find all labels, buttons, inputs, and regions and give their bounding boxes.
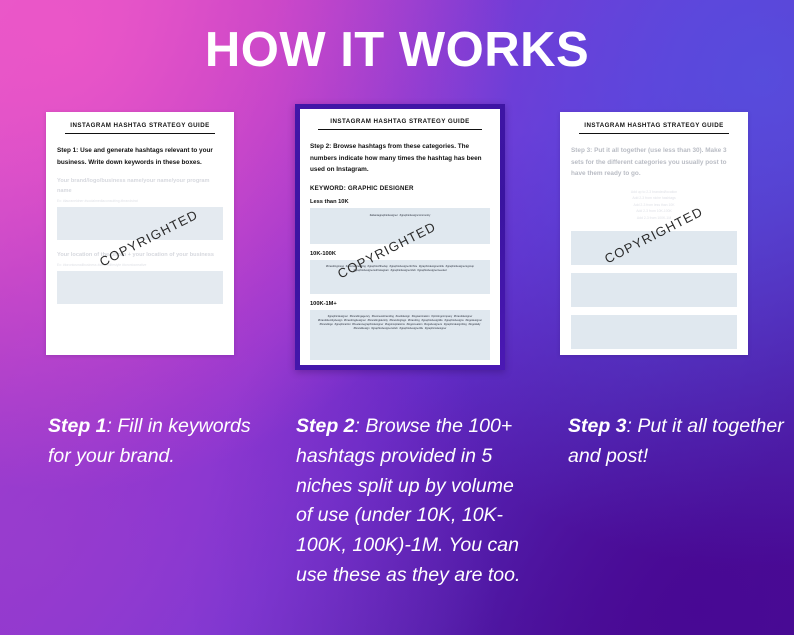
card1-guide-header: INSTAGRAM HASHTAG STRATEGY GUIDE [57,122,223,133]
card2-tier1-label: Less than 10K [310,199,490,205]
card2-guide-header: INSTAGRAM HASHTAG STRATEGY GUIDE [310,118,490,129]
card3-recipe-item: Add up to 2-3 branded/location [571,189,737,196]
card1-field2-label: Your location of the photo + your locati… [57,251,223,261]
page-title: HOW IT WORKS [0,22,794,78]
caption-step2-text: : Browse the 100+ hashtags provided in 5… [296,415,520,586]
poster-canvas: HOW IT WORKS INSTAGRAM HASHTAG STRATEGY … [0,0,794,635]
card3-set-slot-2[interactable] [571,273,737,307]
card3-set-slot-3[interactable] [571,315,737,349]
worksheet-card-step1: INSTAGRAM HASHTAG STRATEGY GUIDE Step 1:… [46,112,234,355]
worksheet-card-step3: INSTAGRAM HASHTAG STRATEGY GUIDE Step 3:… [560,112,748,355]
caption-step2-lead: Step 2 [296,415,355,437]
worksheet-card-step2: INSTAGRAM HASHTAG STRATEGY GUIDE Step 2:… [300,109,500,365]
card1-field1-hint: Ex: #lauraneldner #socialmediaconsulting… [57,199,223,204]
card3-recipe-item: Add 2-3 from 10K-100K [571,208,737,215]
card3-guide-header: INSTAGRAM HASHTAG STRATEGY GUIDE [571,122,737,133]
caption-step3: Step 3: Put it all together and post! [568,412,788,472]
card2-divider [318,129,482,130]
card1-field2-input[interactable] [57,271,223,304]
card2-tier3-label: 100K-1M+ [310,301,490,307]
card1-divider [65,133,215,134]
card3-recipe-list: Add up to 2-3 branded/location Add 2-3 f… [571,189,737,222]
card2-tier1-tagbox[interactable]: #atlantagraphicdesigner #graphicdesignco… [310,208,490,244]
card1-step-instruction: Step 1: Use and generate hashtags releva… [57,145,223,168]
card3-divider [579,133,729,134]
card2-step-instruction: Step 2: Browse hashtags from these categ… [310,141,490,175]
caption-step3-lead: Step 3 [568,415,627,437]
card3-step-instruction: Step 3: Put it all together (use less th… [571,145,737,179]
caption-step2: Step 2: Browse the 100+ hashtags provide… [296,412,526,591]
card2-tier2-tagbox[interactable]: #brandinginspo #welovebranding #graphico… [310,260,490,294]
card3-recipe-item: Add 2-3 from 100K-1M [571,215,737,222]
card2-tier2-tags: #brandinginspo #welovebranding #graphico… [317,265,483,274]
caption-step1: Step 1: Fill in keywords for your brand. [48,412,263,472]
card3-recipe-item: Add 2-3 from less than 10K [571,202,737,209]
card2-tier3-tagbox[interactable]: #graphicdesigner #brandingagency #busine… [310,310,490,360]
card3-recipe-item: Add 2-3 from niche hashtags [571,195,737,202]
caption-step1-lead: Step 1 [48,415,107,437]
card1-field2-hint: Ex: #torontosmallbusiness #ontariolifest… [57,263,223,268]
card2-keyword-heading: KEYWORD: GRAPHIC DESIGNER [310,185,490,192]
card2-tier1-tags: #atlantagraphicdesigner #graphicdesignco… [370,213,431,218]
worksheet-card-step2-frame: INSTAGRAM HASHTAG STRATEGY GUIDE Step 2:… [295,104,505,370]
card2-tier3-tags: #graphicdesigner #brandingagency #busine… [317,315,483,332]
card2-tier2-label: 10K-100K [310,251,490,257]
card3-set-slot-1[interactable] [571,231,737,265]
card1-field1-label: Your brand/logo/business name/your name/… [57,177,223,197]
card1-field1-input[interactable] [57,207,223,240]
